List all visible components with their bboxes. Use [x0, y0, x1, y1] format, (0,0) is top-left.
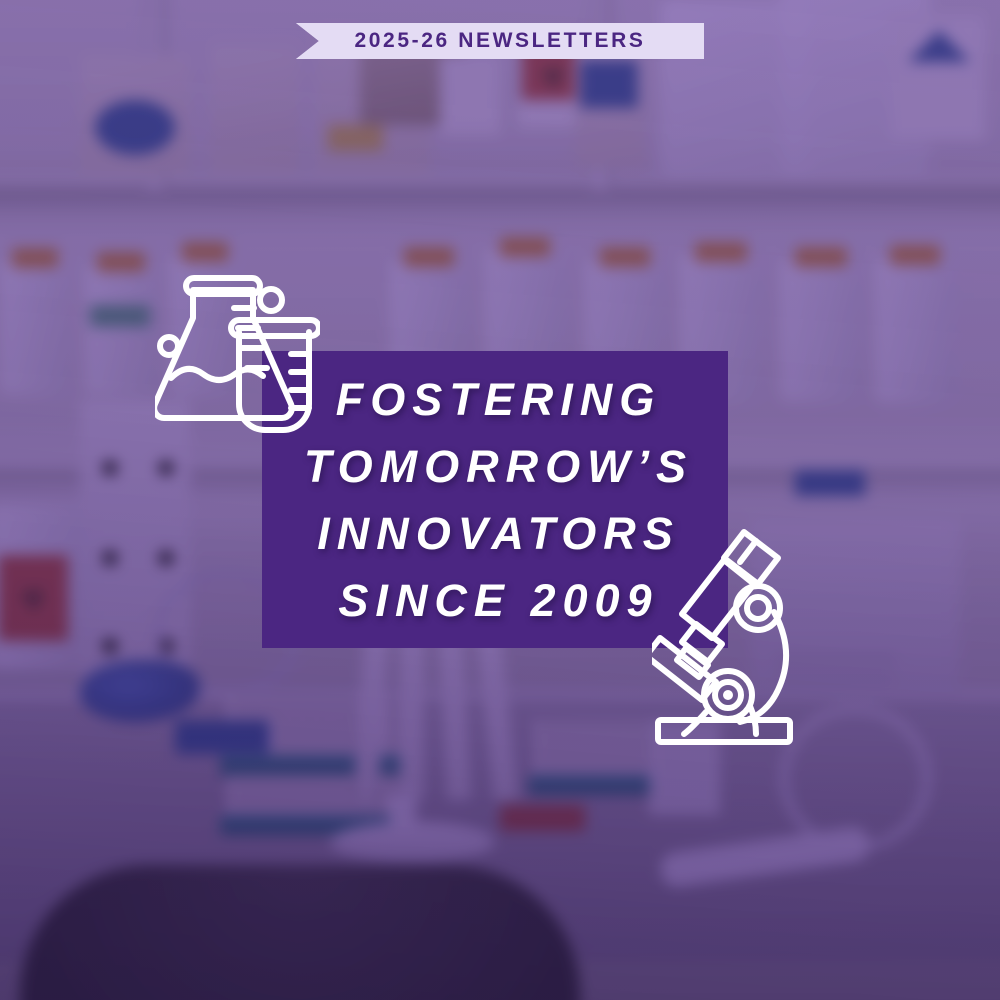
microscope-icon	[652, 520, 804, 748]
headline-line-4: SINCE 2009	[331, 578, 658, 623]
headline-line-1: FOSTERING	[329, 377, 662, 422]
ribbon-label: 2025-26 NEWSLETTERS	[355, 29, 646, 53]
newsletters-ribbon-banner[interactable]: 2025-26 NEWSLETTERS	[296, 23, 704, 59]
headline-line-2: TOMORROW’S	[297, 444, 693, 489]
flask-beaker-icon	[155, 268, 320, 436]
headline-line-3: INNOVATORS	[310, 511, 680, 556]
newsletter-poster: 2025-26 NEWSLETTERS	[0, 0, 1000, 1000]
